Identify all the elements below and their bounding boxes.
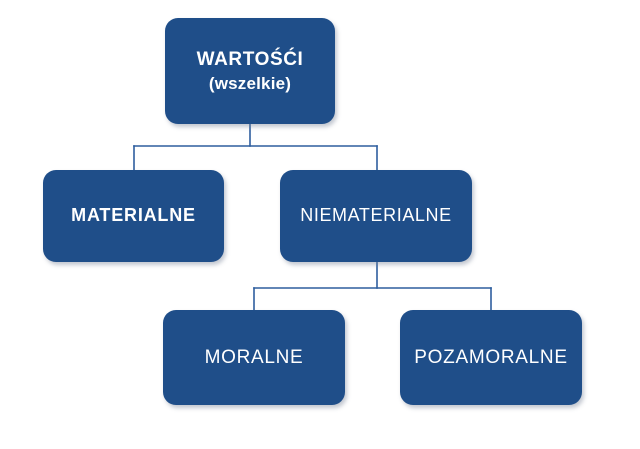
node-pozamoralne[interactable]: POZAMORALNE xyxy=(400,310,582,405)
node-wartosci-label-line1: WARTOŚĆI xyxy=(197,48,304,71)
hierarchy-diagram: WARTOŚĆI (wszelkie) MATERIALNE NIEMATERI… xyxy=(0,0,640,449)
node-materialne[interactable]: MATERIALNE xyxy=(43,170,224,262)
node-niematerialne-label: NIEMATERIALNE xyxy=(300,205,452,227)
node-materialne-label: MATERIALNE xyxy=(71,205,196,227)
node-pozamoralne-label: POZAMORALNE xyxy=(414,346,567,369)
node-moralne[interactable]: MORALNE xyxy=(163,310,345,405)
node-moralne-label: MORALNE xyxy=(205,346,304,369)
node-wartosci[interactable]: WARTOŚĆI (wszelkie) xyxy=(165,18,335,124)
node-wartosci-label-line2: (wszelkie) xyxy=(209,74,291,95)
node-niematerialne[interactable]: NIEMATERIALNE xyxy=(280,170,472,262)
